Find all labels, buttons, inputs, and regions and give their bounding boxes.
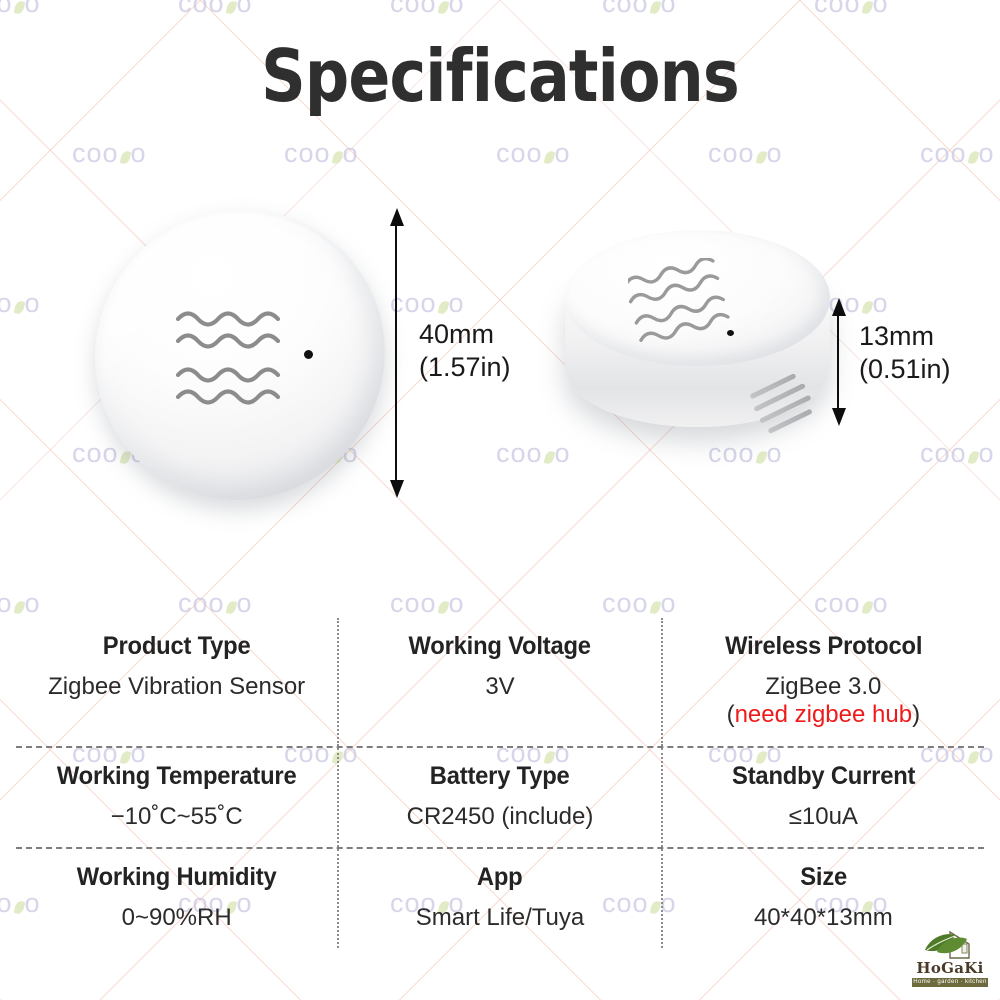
arrow-head-up-icon	[832, 298, 846, 316]
spec-header: Size	[676, 863, 970, 892]
spec-header: Product Type	[30, 632, 324, 661]
spec-value: 0~90%RH	[22, 904, 331, 932]
arrow-head-down-icon	[832, 408, 846, 426]
specification-page: cooocooocooocooocooocooocooocooocooocooo…	[0, 0, 1000, 1000]
watermark-text: cooo	[814, 588, 889, 619]
spec-header: Working Temperature	[30, 762, 324, 791]
product-image-top-view	[95, 210, 385, 500]
spec-header: Working Voltage	[353, 632, 647, 661]
spec-value: 40*40*13mm	[669, 904, 978, 932]
spec-value: −10˚C~55˚C	[22, 803, 331, 831]
spec-header: Working Humidity	[30, 863, 324, 892]
dimension-imperial: (1.57in)	[419, 352, 511, 382]
brand-logo: HoGaKi Home · garden · kitchen	[906, 930, 994, 996]
spec-cell-working-temperature: Working Temperature −10˚C~55˚C	[16, 748, 337, 847]
spec-cell-wireless-protocol: Wireless Protocol ZigBee 3.0 (need zigbe…	[661, 618, 984, 746]
table-row: Working Humidity 0~90%RH App Smart Life/…	[16, 849, 984, 948]
status-led-dot	[304, 350, 313, 359]
page-title: Specifications	[70, 34, 930, 118]
dimension-label-13mm: 13mm (0.51in)	[859, 320, 951, 386]
spec-value: Smart Life/Tuya	[345, 904, 654, 932]
spec-cell-app: App Smart Life/Tuya	[337, 849, 660, 948]
hub-warning-text: need zigbee hub	[735, 701, 913, 728]
spec-header: Standby Current	[676, 762, 970, 791]
spec-cell-product-type: Product Type Zigbee Vibration Sensor	[16, 618, 337, 746]
brand-name: HoGaKi	[906, 961, 994, 976]
specification-table: Product Type Zigbee Vibration Sensor Wor…	[16, 618, 984, 948]
arrow-head-up-icon	[390, 208, 404, 226]
spec-header: Battery Type	[353, 762, 647, 791]
watermark-text: cooo	[390, 588, 465, 619]
watermark-text: cooo	[708, 138, 783, 169]
table-row: Product Type Zigbee Vibration Sensor Wor…	[16, 618, 984, 748]
status-led-dot	[727, 330, 734, 336]
watermark-text: cooo	[602, 0, 677, 19]
spec-value-hub-note: (need zigbee hub)	[669, 701, 978, 729]
arrow-head-down-icon	[390, 480, 404, 498]
spec-value: 3V	[345, 673, 654, 701]
paren-open: (	[727, 701, 735, 728]
spec-cell-working-humidity: Working Humidity 0~90%RH	[16, 849, 337, 948]
brand-tagline: Home · garden · kitchen	[912, 978, 988, 987]
leaf-house-icon	[921, 930, 979, 960]
spec-cell-standby-current: Standby Current ≤10uA	[661, 748, 984, 847]
watermark-text: cooo	[284, 138, 359, 169]
product-images: 40mm (1.57in) 13mm (0.51in)	[0, 190, 1000, 550]
table-row: Working Temperature −10˚C~55˚C Battery T…	[16, 748, 984, 849]
watermark-text: cooo	[814, 0, 889, 19]
watermark-text: cooo	[178, 588, 253, 619]
watermark-text: cooo	[178, 0, 253, 19]
dimension-label-40mm: 40mm (1.57in)	[419, 318, 511, 384]
spec-header: App	[353, 863, 647, 892]
spec-value: ≤10uA	[669, 803, 978, 831]
dimension-imperial: (0.51in)	[859, 354, 951, 384]
paren-close: )	[912, 701, 920, 728]
spec-cell-working-voltage: Working Voltage 3V	[337, 618, 660, 746]
spec-value: ZigBee 3.0 (need zigbee hub)	[669, 673, 978, 730]
spec-value-protocol: ZigBee 3.0	[765, 673, 881, 700]
spec-value: CR2450 (include)	[345, 803, 654, 831]
product-image-angled-view	[565, 230, 840, 475]
watermark-text: cooo	[496, 138, 571, 169]
watermark-text: cooo	[0, 588, 41, 619]
spec-header: Wireless Protocol	[676, 632, 970, 661]
vibration-waves-icon	[628, 258, 738, 343]
dimension-metric: 13mm	[859, 321, 934, 351]
watermark-text: cooo	[602, 588, 677, 619]
watermark-text: cooo	[920, 138, 995, 169]
vibration-waves-icon	[173, 305, 288, 410]
spec-value: Zigbee Vibration Sensor	[22, 673, 331, 701]
dimension-metric: 40mm	[419, 319, 494, 349]
watermark-text: cooo	[0, 0, 41, 19]
spec-cell-battery-type: Battery Type CR2450 (include)	[337, 748, 660, 847]
watermark-text: cooo	[72, 138, 147, 169]
watermark-text: cooo	[390, 0, 465, 19]
dimension-line	[395, 220, 397, 488]
dimension-line	[837, 308, 839, 414]
